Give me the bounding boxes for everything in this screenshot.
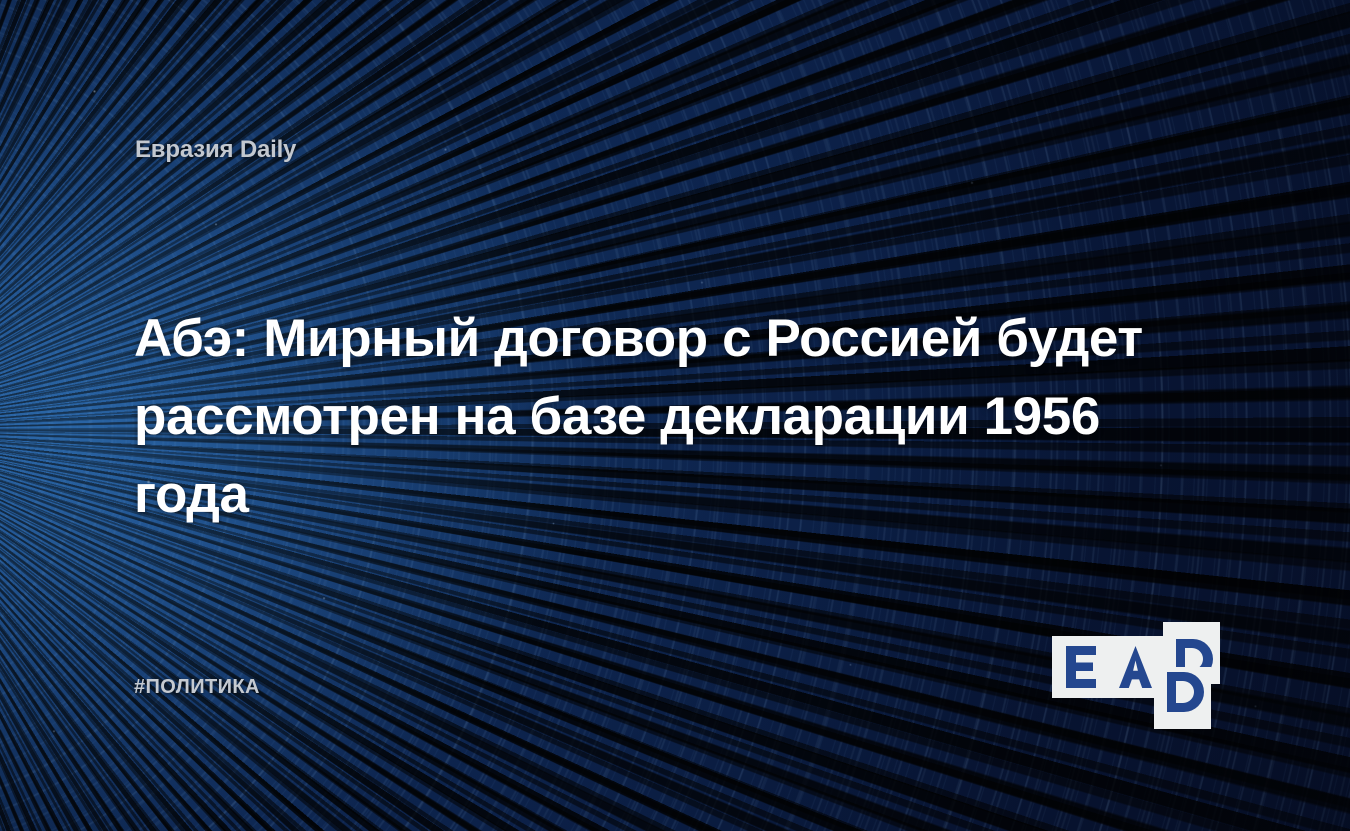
headline-text: Абэ: Мирный договор с Россией будет расс…: [134, 300, 1199, 534]
site-logo-text[interactable]: Евразия Daily: [135, 136, 296, 164]
category-tag[interactable]: #ПОЛИТИКА: [134, 676, 260, 699]
ead-brand-logo[interactable]: [1050, 622, 1225, 714]
ead-logo-tile-e: [1052, 636, 1109, 698]
ead-logo-tile-d-lower: [1154, 667, 1211, 729]
card-content: Евразия Daily Абэ: Мирный договор с Росс…: [0, 0, 1350, 831]
share-card: Евразия Daily Абэ: Мирный договор с Росс…: [0, 0, 1350, 831]
